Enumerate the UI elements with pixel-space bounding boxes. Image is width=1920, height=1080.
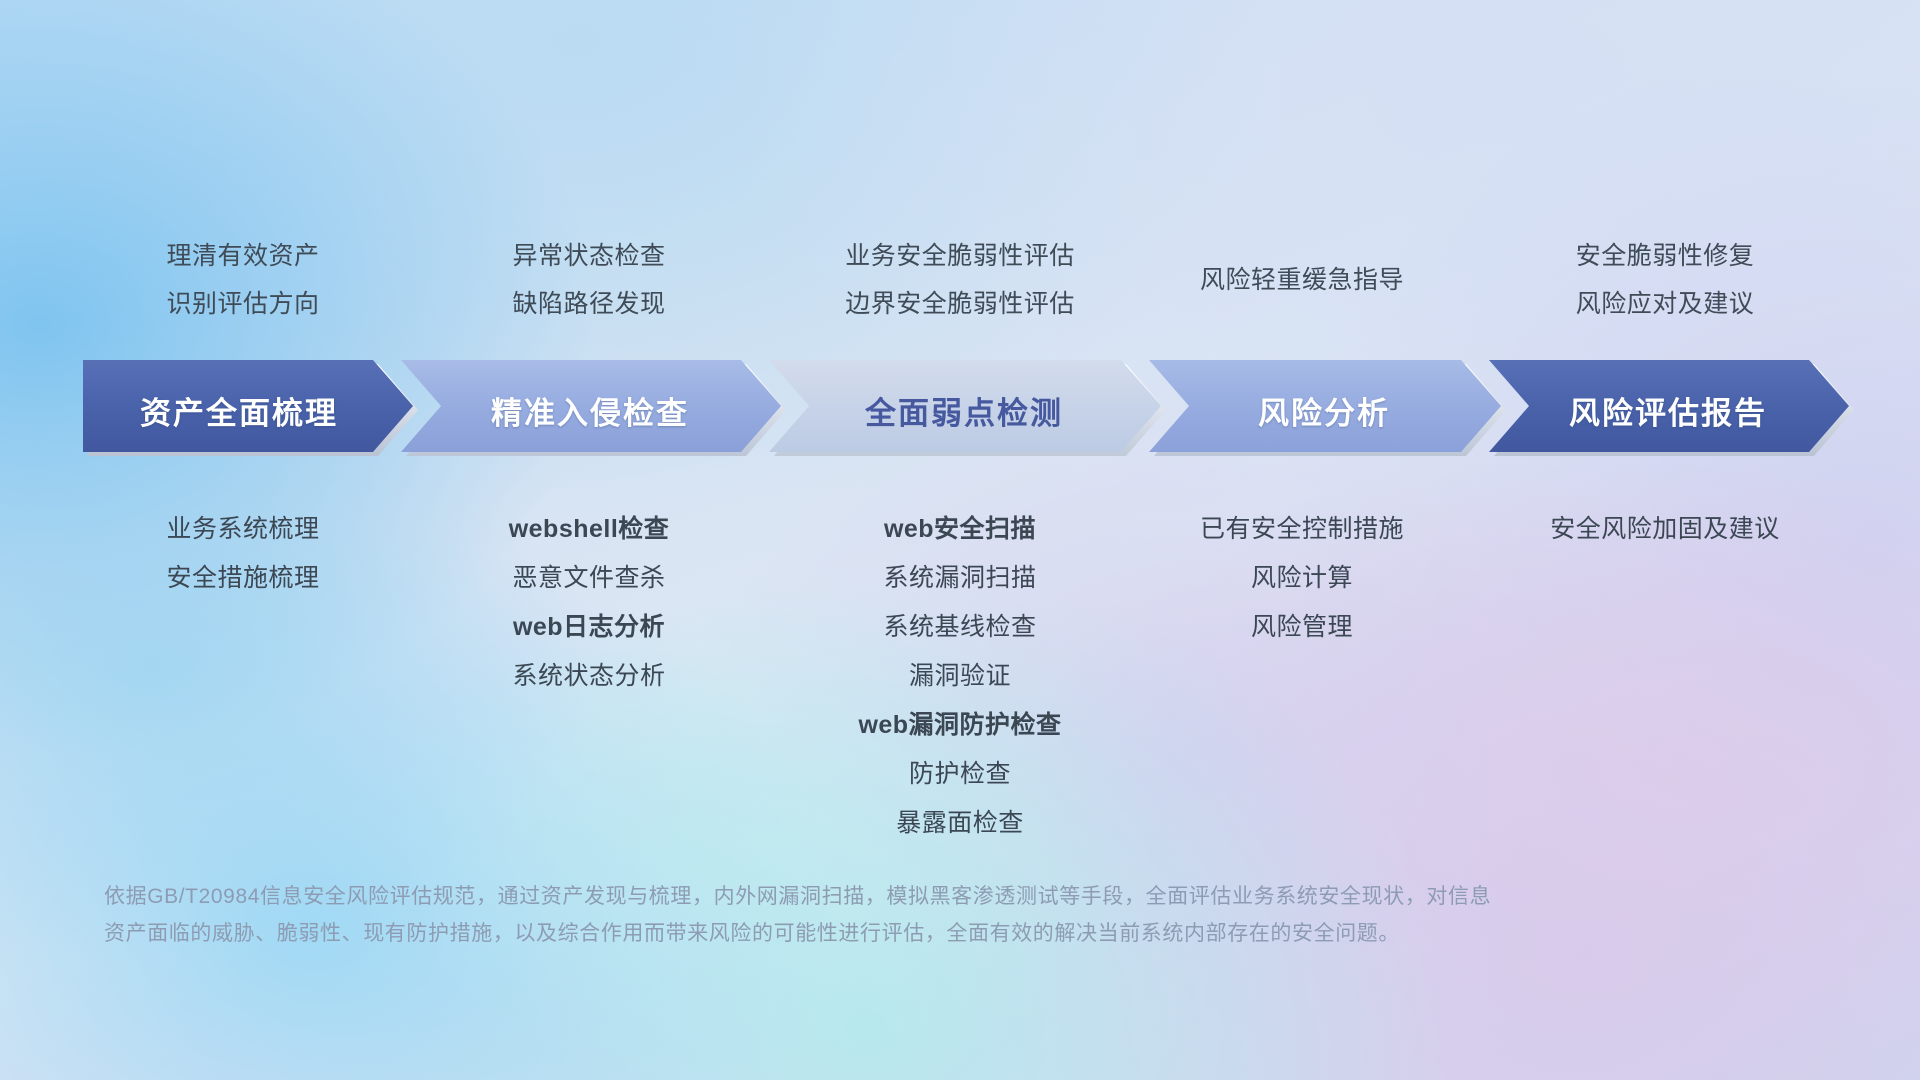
footer-line-2: 资产面临的威胁、脆弱性、现有防护措施，以及综合作用而带来风险的可能性进行评估，全…	[104, 915, 1744, 952]
bottom-note-item: 业务系统梳理	[88, 505, 398, 554]
footer-line-1: 依据GB/T20984信息安全风险评估规范，通过资产发现与梳理，内外网漏洞扫描，…	[104, 878, 1744, 915]
bottom-note-item: 防护检查	[765, 750, 1155, 799]
bottom-note-item: 已有安全控制措施	[1122, 505, 1482, 554]
chevron-label: 全面弱点检测	[865, 388, 1063, 433]
top-note-item: 业务安全脆弱性评估	[765, 232, 1155, 280]
chevron-label: 精准入侵检查	[491, 388, 689, 433]
bottom-notes-weakness-detection: web安全扫描 系统漏洞扫描 系统基线检查 漏洞验证 web漏洞防护检查 防护检…	[765, 505, 1155, 848]
top-notes-risk-analysis: 风险轻重缓急指导	[1122, 256, 1482, 304]
bottom-notes-intrusion-check: webshell检查 恶意文件查杀 web日志分析 系统状态分析	[434, 505, 744, 701]
footer-description: 依据GB/T20984信息安全风险评估规范，通过资产发现与梳理，内外网漏洞扫描，…	[104, 878, 1744, 952]
bottom-note-item: 安全措施梳理	[88, 554, 398, 603]
chevron-risk-report[interactable]: 风险评估报告	[1494, 364, 1854, 456]
stage-chevron-band: 资产全面梳理 精准入侵检查 全面弱点检测 风险分析 风险评估报告	[88, 364, 1848, 456]
bottom-note-item: 风险管理	[1122, 603, 1482, 652]
bottom-note-item: 安全风险加固及建议	[1480, 505, 1850, 554]
bottom-notes-risk-analysis: 已有安全控制措施 风险计算 风险管理	[1122, 505, 1482, 652]
chevron-intrusion-check[interactable]: 精准入侵检查	[406, 364, 786, 456]
top-notes-asset-inventory: 理清有效资产 识别评估方向	[88, 232, 398, 328]
bottom-note-item: 恶意文件查杀	[434, 554, 744, 603]
top-note-item: 异常状态检查	[434, 232, 744, 280]
top-notes-weakness-detection: 业务安全脆弱性评估 边界安全脆弱性评估	[765, 232, 1155, 328]
bottom-notes-risk-report: 安全风险加固及建议	[1480, 505, 1850, 554]
top-note-item: 安全脆弱性修复	[1500, 232, 1830, 280]
top-notes-risk-report: 安全脆弱性修复 风险应对及建议	[1500, 232, 1830, 328]
chevron-weakness-detection[interactable]: 全面弱点检测	[774, 364, 1166, 456]
bottom-note-item: web日志分析	[434, 603, 744, 652]
top-note-item: 风险应对及建议	[1500, 280, 1830, 328]
chevron-label: 风险分析	[1258, 388, 1390, 433]
top-note-item: 缺陷路径发现	[434, 280, 744, 328]
top-note-item: 边界安全脆弱性评估	[765, 280, 1155, 328]
bottom-note-item: web安全扫描	[765, 505, 1155, 554]
top-note-item: 识别评估方向	[88, 280, 398, 328]
chevron-risk-analysis[interactable]: 风险分析	[1154, 364, 1506, 456]
bottom-note-item: 漏洞验证	[765, 652, 1155, 701]
bottom-note-item: 系统状态分析	[434, 652, 744, 701]
chevron-asset-inventory[interactable]: 资产全面梳理	[88, 364, 418, 456]
top-notes-intrusion-check: 异常状态检查 缺陷路径发现	[434, 232, 744, 328]
chevron-label: 资产全面梳理	[140, 388, 338, 433]
bottom-notes-asset-inventory: 业务系统梳理 安全措施梳理	[88, 505, 398, 603]
top-note-item: 风险轻重缓急指导	[1122, 256, 1482, 304]
bottom-note-item: 暴露面检查	[765, 799, 1155, 848]
bottom-note-item: 系统基线检查	[765, 603, 1155, 652]
bottom-note-item: 系统漏洞扫描	[765, 554, 1155, 603]
bottom-note-item: 风险计算	[1122, 554, 1482, 603]
process-diagram: 理清有效资产 识别评估方向 异常状态检查 缺陷路径发现 业务安全脆弱性评估 边界…	[0, 0, 1920, 1080]
top-note-item: 理清有效资产	[88, 232, 398, 280]
chevron-label: 风险评估报告	[1569, 388, 1767, 433]
bottom-note-item: web漏洞防护检查	[765, 701, 1155, 750]
bottom-note-item: webshell检查	[434, 505, 744, 554]
